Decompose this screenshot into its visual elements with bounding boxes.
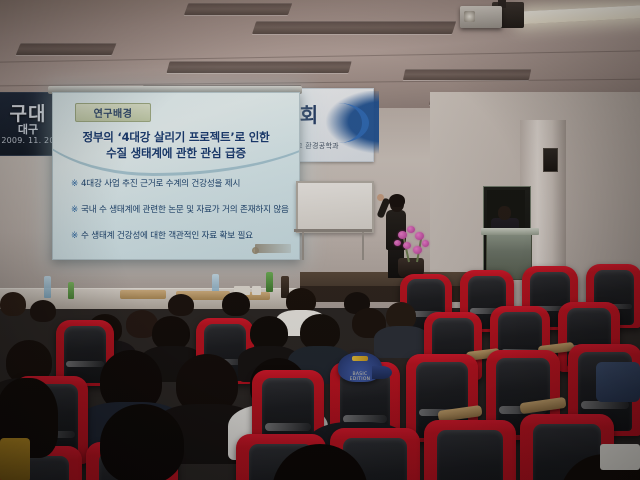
slide-bullet-marker: ※ [71,205,78,215]
slide-logo-wordmark [255,244,291,253]
audience-member [250,316,288,350]
banner-left-date: 2009. 11. 20 [0,136,59,145]
cap-logo-icon [352,356,368,361]
whiteboard-leg-left [302,232,304,260]
slide-title-line-1: 정부의 ‘4대강 살리기 프로젝트’로 인한 [61,129,291,145]
orchid-bloom [394,240,401,246]
audience-member [30,300,56,322]
whiteboard-tray [294,229,372,232]
audience-member [176,354,238,414]
audience-member [272,444,368,480]
slide-bullet-text: 수 생태계 건강성에 대한 객관적인 자료 확보 필요 [81,231,253,241]
slide-badge-label: 연구배경 [94,105,133,120]
audience-bag [0,438,30,480]
orchid-bloom [413,246,422,254]
audience-member [100,350,162,412]
audience-member [286,288,316,314]
seat[interactable] [424,420,516,480]
presenter-hair [389,194,405,207]
presenter-hand [377,194,384,201]
ceiling-light [519,5,640,25]
orchid-bloom [403,242,411,249]
podium-top-surface [481,228,539,235]
audience-member [168,294,194,316]
orchid-bloom [398,231,407,239]
whiteboard-leg-right [362,232,364,260]
orchid-bloom [407,226,415,233]
slide-title-line-2: 수질 생태계에 관한 관심 급증 [61,145,291,161]
projection-screen: 연구배경 정부의 ‘4대강 살리기 프로젝트’로 인한 수질 생태계에 관한 관… [52,92,300,260]
slide-bullet-2: ※국내 수 생태계에 관련한 논문 및 자료가 거의 존재하지 않음 [71,203,293,215]
slide-bullet-marker: ※ [71,231,78,241]
projector-lens-icon [464,11,475,22]
lecture-hall-photo: 구대 대구 2009. 11. 20 발표회 표회 대구대학교 환경공학과 연구… [0,0,640,480]
slide-section-badge: 연구배경 [75,103,151,122]
audience-legs [596,362,640,402]
slide-bullet-marker: ※ [71,179,78,189]
orchid-bloom [422,240,429,247]
audience-member [152,316,190,350]
papers-on-seat [600,444,640,470]
banner-left-sub-text: 대구 [0,121,59,137]
podium-speaker-head [498,206,511,220]
slide-bullet-text: 국내 수 생태계에 관련한 논문 및 자료가 거의 존재하지 않음 [81,205,289,215]
audience-member [300,314,340,350]
audience-seating [0,258,640,480]
slide-bullet-1: ※4대강 사업 추진 근거로 수계의 건강성을 제시 [71,177,293,189]
slide-bullet-text: 4대강 사업 추진 근거로 수계의 건강성을 제시 [81,179,240,189]
audience-member [386,302,416,330]
orchid-bloom [415,232,424,240]
audience-member [0,292,26,316]
whiteboard [296,181,374,233]
slide-bullet-3: ※수 생태계 건강성에 대한 객관적인 자료 확보 필요 [71,229,293,241]
wall-speaker [543,148,558,172]
audience-member [222,292,250,316]
audience-member [100,404,184,480]
cap-text: BASIC EDITION [344,372,376,382]
